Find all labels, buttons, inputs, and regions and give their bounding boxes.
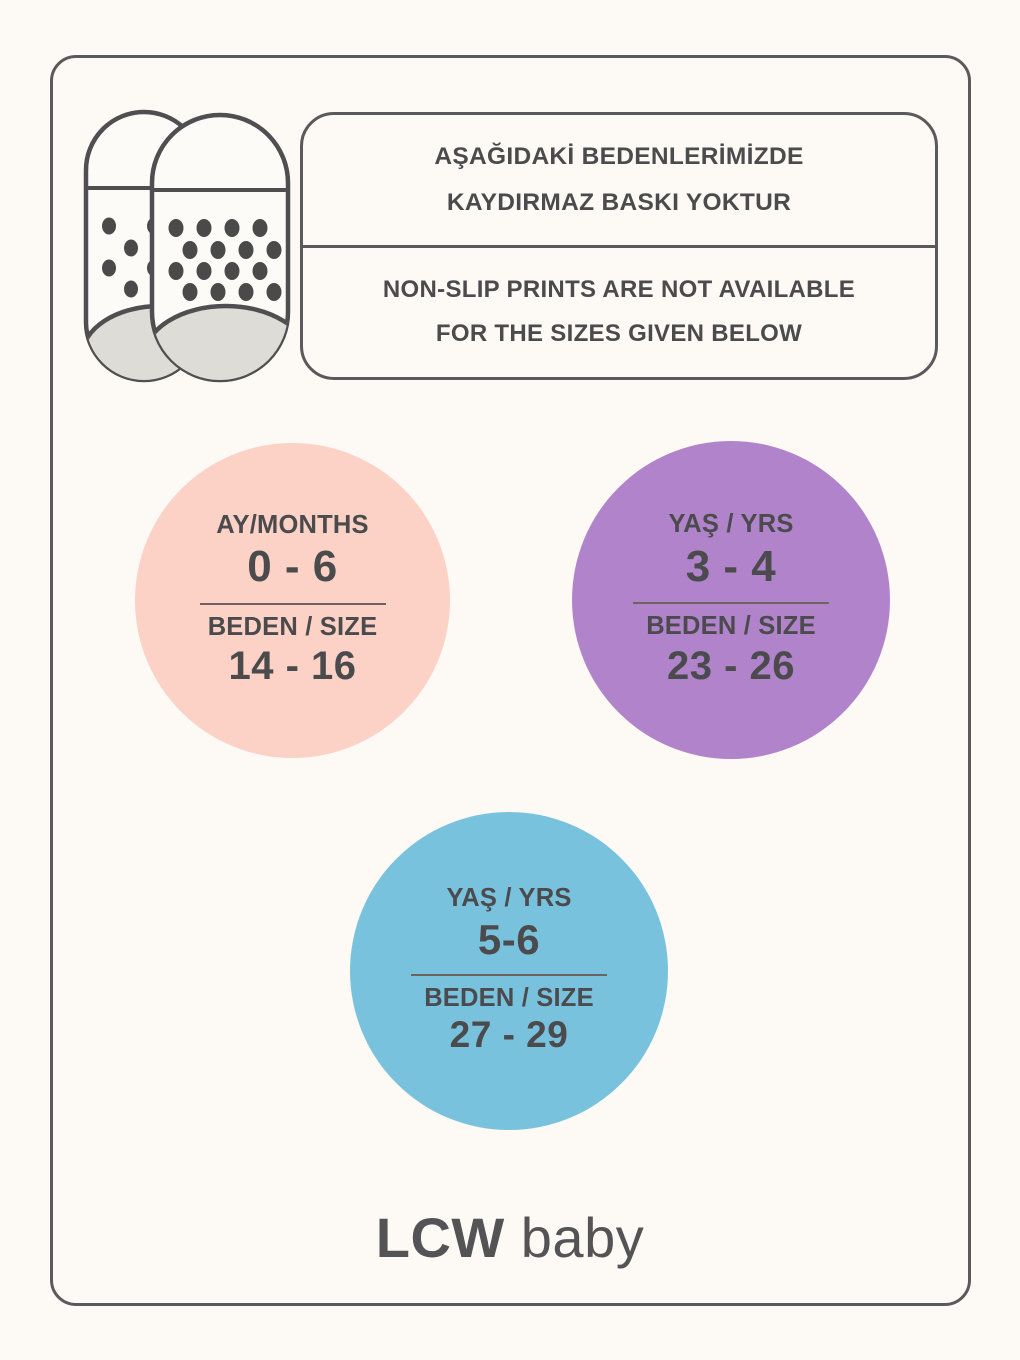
age-unit-label: YAŞ / YRS	[446, 884, 571, 913]
notice-turkish: AŞAĞIDAKİ BEDENLERİMİZDE KAYDIRMAZ BASKI…	[303, 115, 935, 248]
notice-turkish-line-1: AŞAĞIDAKİ BEDENLERİMİZDE	[434, 134, 803, 179]
notice-english: NON-SLIP PRINTS ARE NOT AVAILABLE FOR TH…	[303, 248, 935, 378]
non-slip-notice-panel: AŞAĞIDAKİ BEDENLERİMİZDE KAYDIRMAZ BASKI…	[300, 112, 938, 380]
size-range-value: 23 - 26	[667, 642, 795, 690]
notice-turkish-line-2: KAYDIRMAZ BASKI YOKTUR	[447, 180, 791, 225]
size-circle-blue: YAŞ / YRS 5-6 BEDEN / SIZE 27 - 29	[350, 812, 668, 1130]
size-range-value: 14 - 16	[228, 642, 356, 690]
notice-english-line-1: NON-SLIP PRINTS ARE NOT AVAILABLE	[383, 268, 855, 312]
sock-right	[144, 115, 292, 384]
notice-english-line-2: FOR THE SIZES GIVEN BELOW	[436, 312, 802, 356]
brand-secondary: baby	[521, 1206, 644, 1269]
age-range-value: 5-6	[478, 914, 540, 965]
age-unit-label: AY/MONTHS	[216, 511, 368, 540]
circle-divider	[411, 974, 607, 976]
socks-illustration	[82, 108, 292, 384]
size-chart-page: AŞAĞIDAKİ BEDENLERİMİZDE KAYDIRMAZ BASKI…	[0, 0, 1020, 1360]
circle-divider	[200, 603, 386, 605]
size-unit-label: BEDEN / SIZE	[208, 612, 378, 643]
brand-primary: LCW	[376, 1206, 505, 1269]
size-unit-label: BEDEN / SIZE	[424, 983, 594, 1014]
size-unit-label: BEDEN / SIZE	[646, 611, 816, 642]
age-range-value: 0 - 6	[247, 540, 338, 594]
age-range-value: 3 - 4	[686, 540, 777, 594]
age-unit-label: YAŞ / YRS	[668, 510, 793, 539]
size-circle-pink: AY/MONTHS 0 - 6 BEDEN / SIZE 14 - 16	[135, 443, 450, 758]
brand-logo: LCWbaby	[0, 1205, 1020, 1270]
size-range-value: 27 - 29	[450, 1013, 569, 1057]
size-circle-purple: YAŞ / YRS 3 - 4 BEDEN / SIZE 23 - 26	[572, 441, 890, 759]
circle-divider	[633, 602, 829, 604]
